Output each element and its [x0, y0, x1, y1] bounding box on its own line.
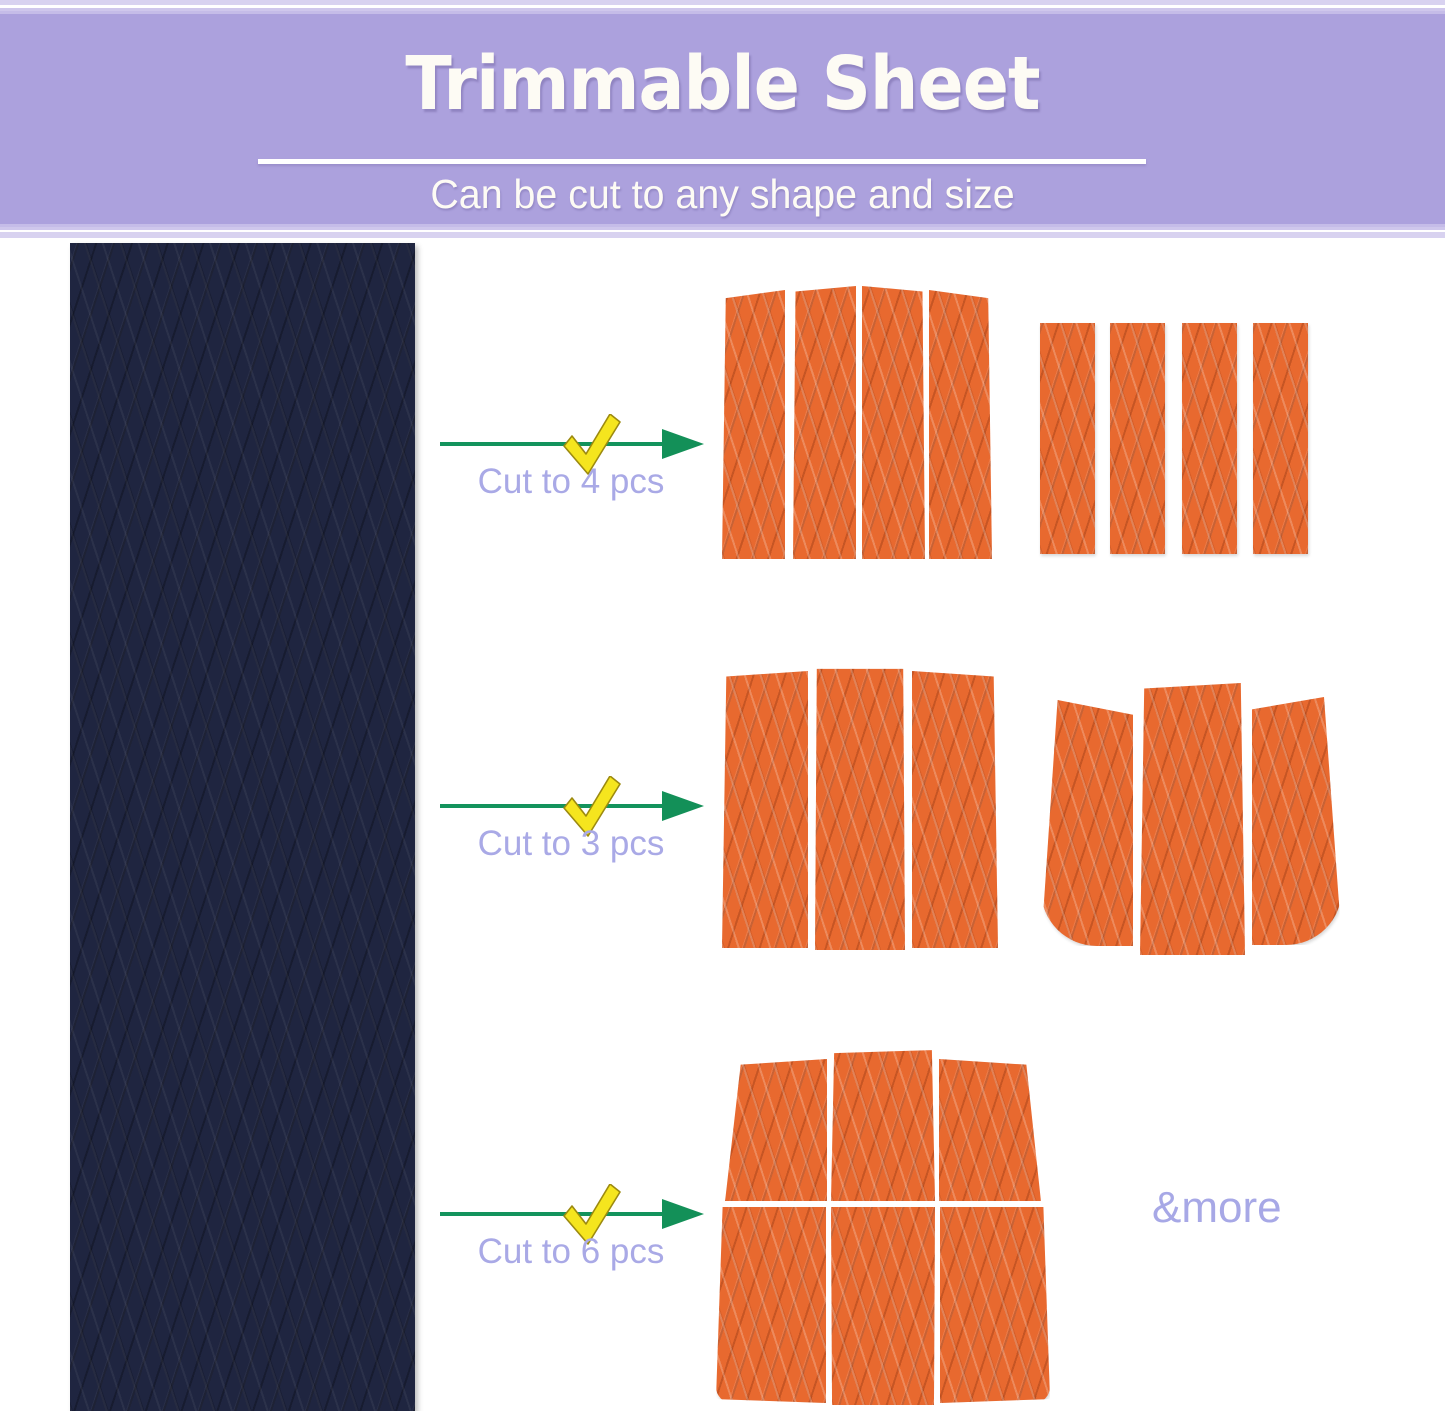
pad-texture: [723, 1059, 827, 1201]
pad-texture: [1041, 700, 1133, 946]
pad-piece: [1140, 683, 1245, 955]
sheet-texture: [70, 243, 415, 1411]
pad-piece: [1110, 323, 1165, 554]
cut-to-6-arrow-group: Cut to 6 pcs: [440, 1188, 702, 1308]
arrow-right-icon: [662, 791, 704, 821]
pad-texture: [793, 286, 856, 559]
cut-to-6-label: Cut to 6 pcs: [439, 1232, 703, 1272]
pad-texture: [722, 671, 808, 948]
cut-to-4-label: Cut to 4 pcs: [439, 462, 703, 502]
header-outer-bottom-line: [0, 232, 1445, 238]
arrow-right-icon: [662, 1199, 704, 1229]
pad-piece: [793, 286, 856, 559]
pad-piece: [722, 290, 785, 559]
header-divider: [258, 159, 1146, 164]
arrow-shaft: [440, 804, 672, 808]
pad-piece: [940, 1207, 1050, 1403]
pad-texture: [815, 666, 905, 950]
pad-piece: [1182, 323, 1237, 554]
pad-piece: [722, 671, 808, 948]
pad-texture: [1040, 323, 1095, 554]
pad-piece: [723, 1059, 827, 1201]
cut-to-3-arrow-group: Cut to 3 pcs: [440, 780, 702, 900]
pad-texture: [1140, 683, 1245, 955]
pad-texture: [831, 1207, 935, 1405]
pad-texture: [940, 1207, 1050, 1403]
pad-texture: [939, 1059, 1043, 1201]
header-outer-top-line: [0, 0, 1445, 5]
pad-piece: [831, 1207, 935, 1405]
pad-piece: [831, 1047, 935, 1201]
arrow-right-icon: [662, 429, 704, 459]
pad-texture: [862, 286, 925, 559]
infographic-root: Trimmable Sheet Can be cut to any shape …: [0, 0, 1445, 1411]
header-bottom-hairline: [0, 224, 1445, 227]
header-banner: Trimmable Sheet Can be cut to any shape …: [0, 8, 1445, 230]
pad-texture: [831, 1047, 935, 1201]
pad-texture: [1252, 697, 1342, 945]
pad-piece: [1040, 323, 1095, 554]
page-subtitle: Can be cut to any shape and size: [29, 171, 1416, 218]
pad-piece: [716, 1207, 826, 1403]
pad-texture: [716, 1207, 826, 1403]
pad-texture: [1182, 323, 1237, 554]
pad-piece: [1253, 323, 1308, 554]
page-title: Trimmable Sheet: [58, 47, 1387, 121]
pad-piece: [862, 286, 925, 559]
pad-texture: [1253, 323, 1308, 554]
uncut-traction-sheet: [70, 243, 415, 1411]
pad-piece: [912, 671, 998, 948]
pad-piece: [1041, 700, 1133, 946]
header-top-hairline: [0, 11, 1445, 14]
cut-to-3-label: Cut to 3 pcs: [439, 824, 703, 864]
cut-to-4-arrow-group: Cut to 4 pcs: [440, 418, 702, 538]
pad-texture: [929, 290, 992, 559]
pad-piece: [929, 290, 992, 559]
pad-piece: [815, 666, 905, 950]
arrow-shaft: [440, 442, 672, 446]
arrow-shaft: [440, 1212, 672, 1216]
pad-texture: [912, 671, 998, 948]
pad-piece: [939, 1059, 1043, 1201]
pad-texture: [722, 290, 785, 559]
pad-piece: [1252, 697, 1342, 945]
more-label: &more: [1152, 1183, 1282, 1233]
pad-texture: [1110, 323, 1165, 554]
